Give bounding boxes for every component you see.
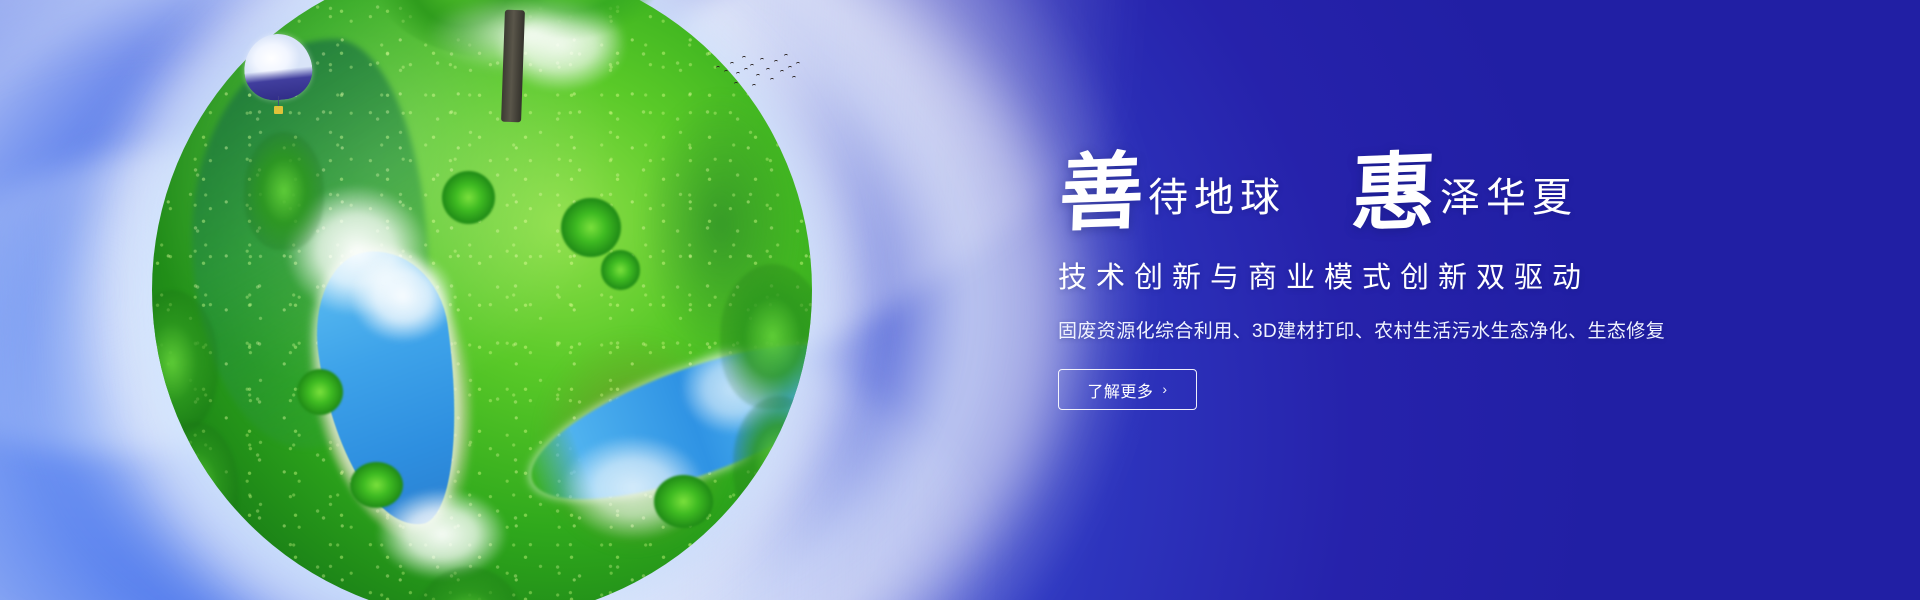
bird-icon — [760, 58, 765, 63]
bird-icon — [796, 62, 801, 67]
learn-more-label: 了解更多 — [1087, 378, 1153, 402]
bird-icon — [736, 72, 741, 77]
hot-air-balloon-icon — [244, 34, 312, 120]
hero-description: 固废资源化综合利用、3D建材打印、农村生活污水生态净化、生态修复 — [1058, 316, 1698, 343]
shrub-icon — [601, 250, 641, 290]
balloon-basket — [274, 106, 283, 114]
bird-icon — [770, 78, 775, 83]
headline-rest-chars: 泽华夏 — [1440, 178, 1578, 234]
bird-flock-icon — [714, 48, 800, 92]
shrub-icon — [442, 171, 495, 224]
shrub-icon — [561, 198, 620, 257]
hero-subtitle: 技术创新与商业模式创新双驱动 — [1058, 254, 1698, 296]
tree-icon — [375, 0, 665, 120]
headline-phrase-1: 善 待地球 — [1058, 157, 1286, 234]
shrub-icon — [654, 475, 713, 528]
bird-icon — [774, 60, 779, 65]
bird-icon — [744, 68, 749, 73]
balloon-envelope — [241, 31, 316, 104]
bird-icon — [788, 66, 793, 71]
hero-banner: 善 待地球 惠 泽华夏 技术创新与商业模式创新双驱动 固废资源化综合利用、3D建… — [0, 0, 1920, 600]
bird-icon — [784, 54, 789, 59]
tree-trunk — [501, 10, 525, 123]
bird-icon — [734, 82, 739, 87]
bird-icon — [780, 70, 785, 75]
bird-icon — [792, 76, 797, 81]
cloud-puff-icon — [350, 250, 456, 342]
cloud-puff-icon — [376, 488, 508, 580]
rim-tree-icon — [244, 132, 323, 251]
hero-content: 善 待地球 惠 泽华夏 技术创新与商业模式创新双驱动 固废资源化综合利用、3D建… — [1058, 130, 1698, 410]
headline-lead-char: 善 — [1058, 154, 1145, 234]
bird-icon — [716, 66, 721, 71]
bird-icon — [756, 74, 761, 79]
learn-more-button[interactable]: 了解更多 › — [1058, 369, 1197, 410]
tree-mist — [427, 0, 627, 74]
bird-icon — [750, 64, 755, 69]
headline-lead-char: 惠 — [1350, 154, 1437, 234]
shrub-icon — [350, 462, 403, 508]
page-title: 善 待地球 惠 泽华夏 — [1058, 130, 1698, 234]
rim-tree-icon — [152, 422, 238, 554]
bird-icon — [752, 84, 757, 89]
bird-icon — [766, 68, 771, 73]
headline-phrase-2: 惠 泽华夏 — [1350, 157, 1578, 234]
bird-icon — [742, 56, 747, 61]
chevron-right-icon: › — [1162, 382, 1167, 396]
headline-rest-chars: 待地球 — [1148, 178, 1286, 234]
bird-icon — [730, 62, 735, 67]
bird-icon — [724, 70, 729, 75]
